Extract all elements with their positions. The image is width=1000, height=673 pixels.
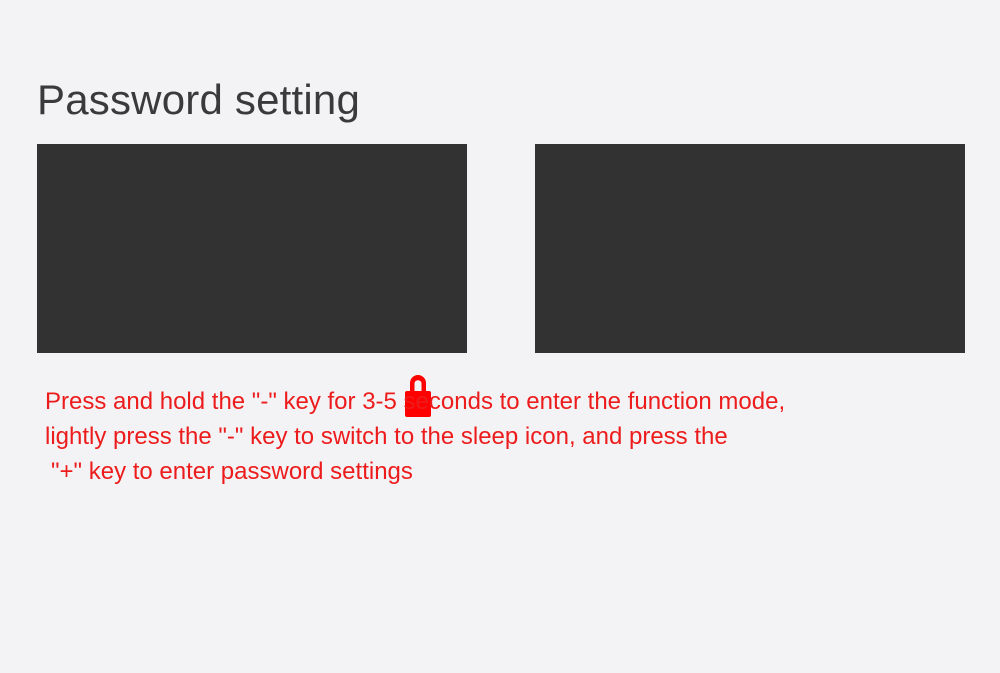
password-setting-page: Password setting Press and hold the "-" …: [0, 0, 1000, 673]
instruction-line-3: "+" key to enter password settings: [45, 454, 975, 489]
display-panel-keypad: [535, 144, 965, 353]
instruction-line-1: Press and hold the "-" key for 3-5 secon…: [45, 384, 975, 419]
page-title: Password setting: [37, 72, 360, 128]
instruction-line-2: lightly press the "-" key to switch to t…: [45, 419, 975, 454]
instruction-text: Press and hold the "-" key for 3-5 secon…: [45, 384, 975, 489]
display-panel-lock: [37, 144, 467, 353]
